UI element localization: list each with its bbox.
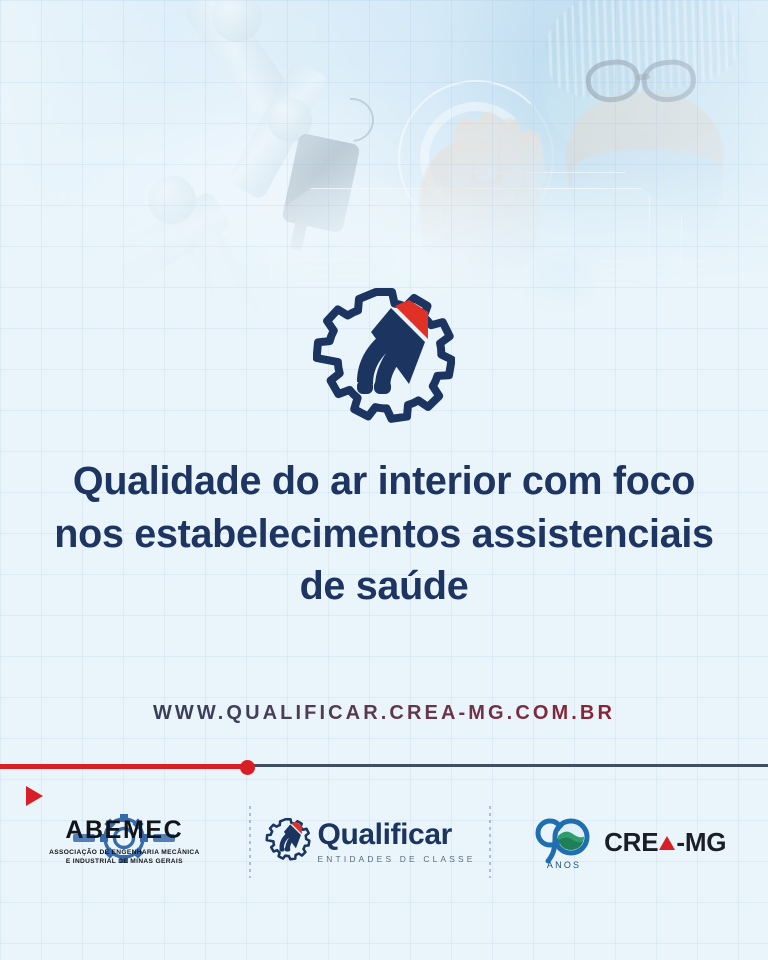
- footer-logo-bar: ABEMEC ASSOCIAÇÃO DE ENGENHARIA MECÂNICA…: [0, 792, 768, 892]
- divider-dot-marker: [240, 760, 255, 775]
- crea-text-prefix: CRE: [604, 829, 658, 855]
- logo-crea-mg[interactable]: ANOS CRE-MG: [491, 792, 768, 892]
- crea-mg-name: CRE-MG: [604, 829, 726, 855]
- abemec-subtitle: ASSOCIAÇÃO DE ENGENHARIA MECÂNICA E INDU…: [49, 848, 200, 867]
- crea-text-suffix: -MG: [676, 829, 726, 855]
- poster-canvas: Qualidade do ar interior com foco nos es…: [0, 0, 768, 960]
- divider-dark-segment: [252, 764, 768, 767]
- hero-image: [0, 0, 768, 330]
- qualificar-name: Qualificar: [318, 820, 476, 850]
- website-url[interactable]: WWW.QUALIFICAR.CREA-MG.COM.BR: [0, 702, 768, 725]
- divider-red-segment: [0, 764, 252, 769]
- divider-rule: [0, 764, 768, 769]
- anos-label: ANOS: [547, 860, 581, 870]
- abemec-name: ABEMEC: [49, 818, 200, 843]
- headline-line-2: nos estabelecimentos assistenciais: [36, 508, 732, 561]
- gear-m-icon: [265, 818, 311, 866]
- logo-qualificar[interactable]: Qualificar ENTIDADES DE CLASSE: [251, 792, 490, 892]
- footer-divider: [489, 806, 491, 878]
- abemec-subtitle-line-2: E INDUSTRIAL DE MINAS GERAIS: [49, 857, 200, 866]
- crea-a-triangle-icon: [659, 836, 675, 850]
- hero-bottom-fade: [0, 0, 768, 330]
- headline-line-1: Qualidade do ar interior com foco: [36, 455, 732, 508]
- abemec-subtitle-line-1: ASSOCIAÇÃO DE ENGENHARIA MECÂNICA: [49, 848, 200, 857]
- qualificar-subtitle: ENTIDADES DE CLASSE: [318, 854, 476, 864]
- headline-line-3: de saúde: [36, 560, 732, 613]
- logo-abemec[interactable]: ABEMEC ASSOCIAÇÃO DE ENGENHARIA MECÂNICA…: [0, 792, 249, 892]
- brand-logo: [0, 288, 768, 440]
- page-title: Qualidade do ar interior com foco nos es…: [0, 455, 768, 613]
- qualificar-gear-m-icon: [313, 288, 455, 440]
- footer-divider: [249, 806, 251, 878]
